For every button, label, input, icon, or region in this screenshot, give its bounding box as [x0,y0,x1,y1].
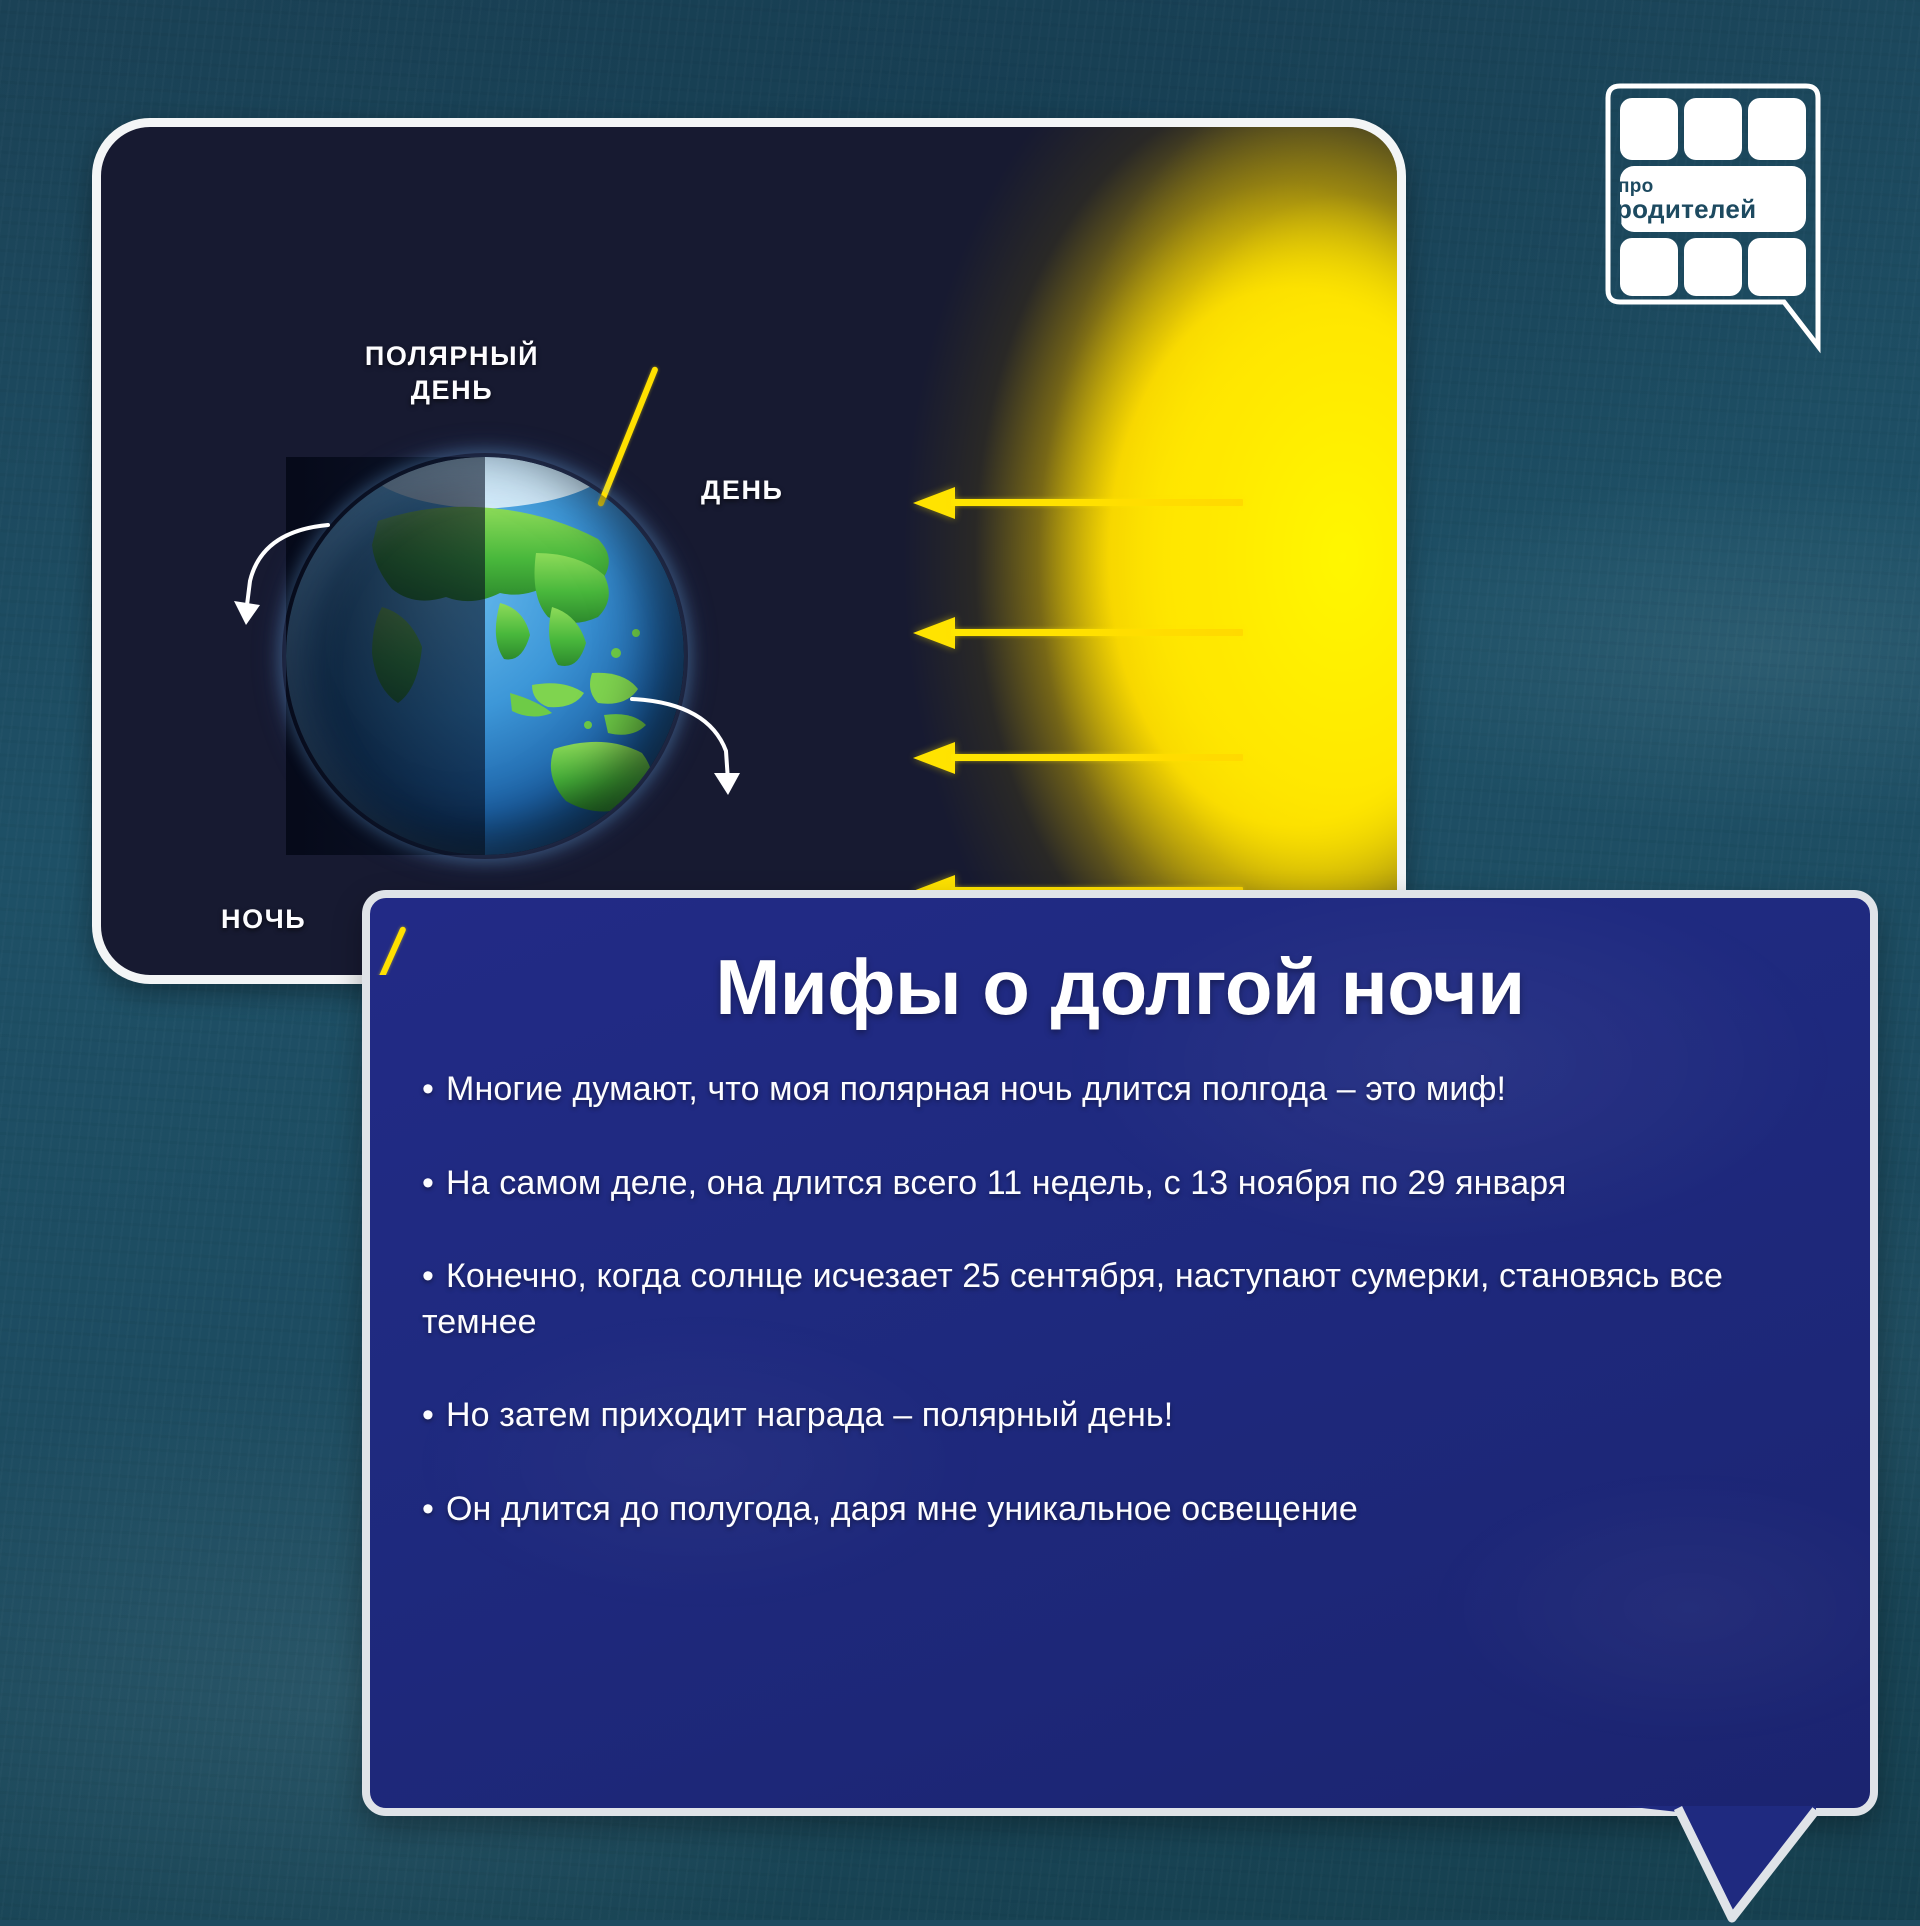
bullet-marker: • [422,1393,434,1439]
earth-globe [286,457,684,855]
list-item-text: Многие думают, что моя полярная ночь дли… [446,1070,1506,1108]
polar-day-night-diagram-card: ПОЛЯРНЫЙ ДЕНЬ ДЕНЬ НОЧЬ ПОЛЯРНАЯ НОЧЬ СО… [92,118,1406,984]
rotation-arrow-right-icon [616,689,746,809]
sunray-arrow-1 [913,497,1243,508]
label-day: ДЕНЬ [701,473,841,507]
bullet-marker: • [422,1254,434,1300]
myths-bullet-list: •Многие думают, что моя полярная ночь дл… [422,1067,1816,1532]
list-item: •На самом деле, она длится всего 11 неде… [422,1161,1816,1207]
bullet-marker: • [422,1487,434,1533]
label-polar-day: ПОЛЯРНЫЙ ДЕНЬ [323,339,581,407]
sunray-arrow-3 [913,752,1243,763]
list-item: •Многие думают, что моя полярная ночь дл… [422,1067,1816,1113]
arrow-shaft [951,629,1243,636]
arrowhead-icon [913,617,955,649]
list-item: •Он длится до полугода, даря мне уникаль… [422,1487,1816,1533]
arrowhead-icon [913,487,955,519]
logo-line-1: про [1616,177,1792,196]
page-title: Мифы о долгой ночи [370,942,1870,1033]
bullet-marker: • [422,1161,434,1207]
myths-speech-bubble-card: Мифы о долгой ночи •Многие думают, что м… [362,890,1878,1816]
logo-wordmark: про родителей [1616,168,1792,230]
arrowhead-icon [913,742,955,774]
list-item-text: Он длится до полугода, даря мне уникальн… [446,1490,1358,1528]
rotation-arrow-left-icon [224,509,344,639]
sunray-arrow-2 [913,627,1243,638]
bullet-marker: • [422,1067,434,1113]
list-item-text: Конечно, когда солнце исчезает 25 сентяб… [422,1257,1723,1341]
speech-bubble-tail-icon [1620,1806,1820,1926]
brand-logo: про родителей [1598,80,1828,310]
list-item: •Конечно, когда солнце исчезает 25 сентя… [422,1254,1816,1345]
list-item-text: На самом деле, она длится всего 11 недел… [446,1164,1566,1202]
list-item-text: Но затем приходит награда – полярный ден… [446,1396,1173,1434]
logo-line-2: родителей [1616,196,1792,222]
arrow-shaft [951,754,1243,761]
label-night: НОЧЬ [221,902,351,936]
sun-core [887,118,1406,984]
arrow-shaft [951,499,1243,506]
list-item: •Но затем приходит награда – полярный де… [422,1393,1816,1439]
